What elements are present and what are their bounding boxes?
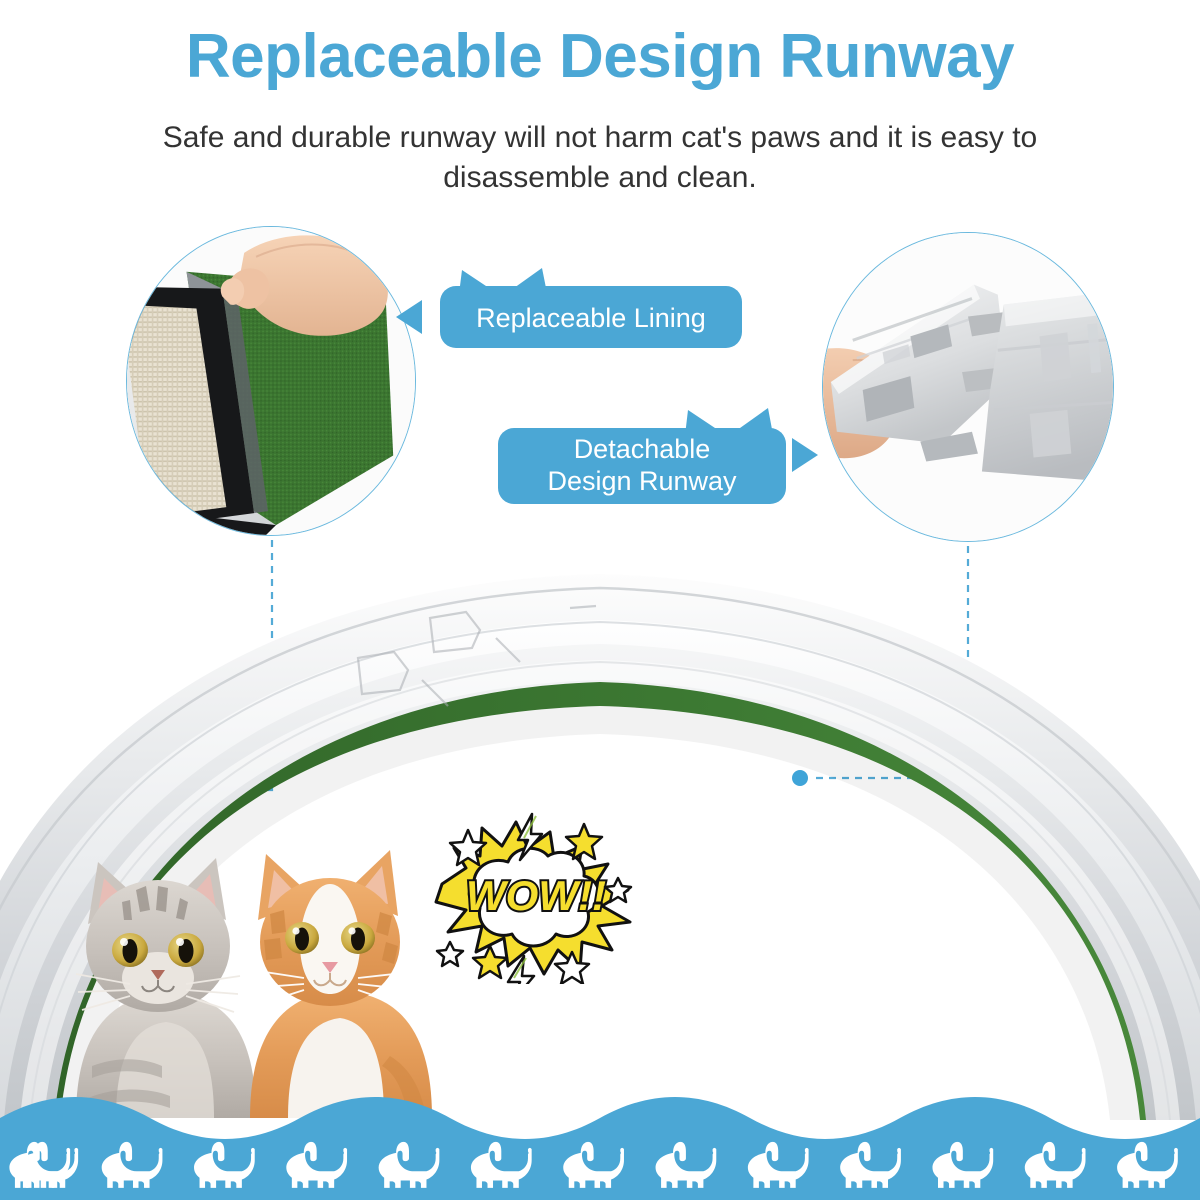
page-title: Replaceable Design Runway bbox=[0, 24, 1200, 89]
footer-wave bbox=[0, 1080, 1200, 1200]
inset-replaceable-lining bbox=[126, 226, 416, 536]
cat-ginger-tabby bbox=[250, 850, 432, 1118]
infographic-page: Replaceable Design Runway Safe and durab… bbox=[0, 0, 1200, 1200]
left-arrow-icon bbox=[396, 300, 422, 334]
wow-text: WOW!! bbox=[466, 872, 606, 919]
inset-detachable-runway bbox=[822, 232, 1114, 542]
callout-replaceable-lining[interactable]: Replaceable Lining bbox=[440, 268, 742, 348]
wow-sticker: WOW!! bbox=[432, 806, 646, 984]
cats-photo bbox=[58, 828, 448, 1118]
page-subtitle: Safe and durable runway will not harm ca… bbox=[150, 118, 1050, 197]
callout-detachable-design-runway[interactable]: Detachable Design Runway bbox=[498, 406, 786, 504]
cat-silver-tabby bbox=[76, 858, 256, 1118]
right-arrow-icon bbox=[792, 438, 818, 472]
